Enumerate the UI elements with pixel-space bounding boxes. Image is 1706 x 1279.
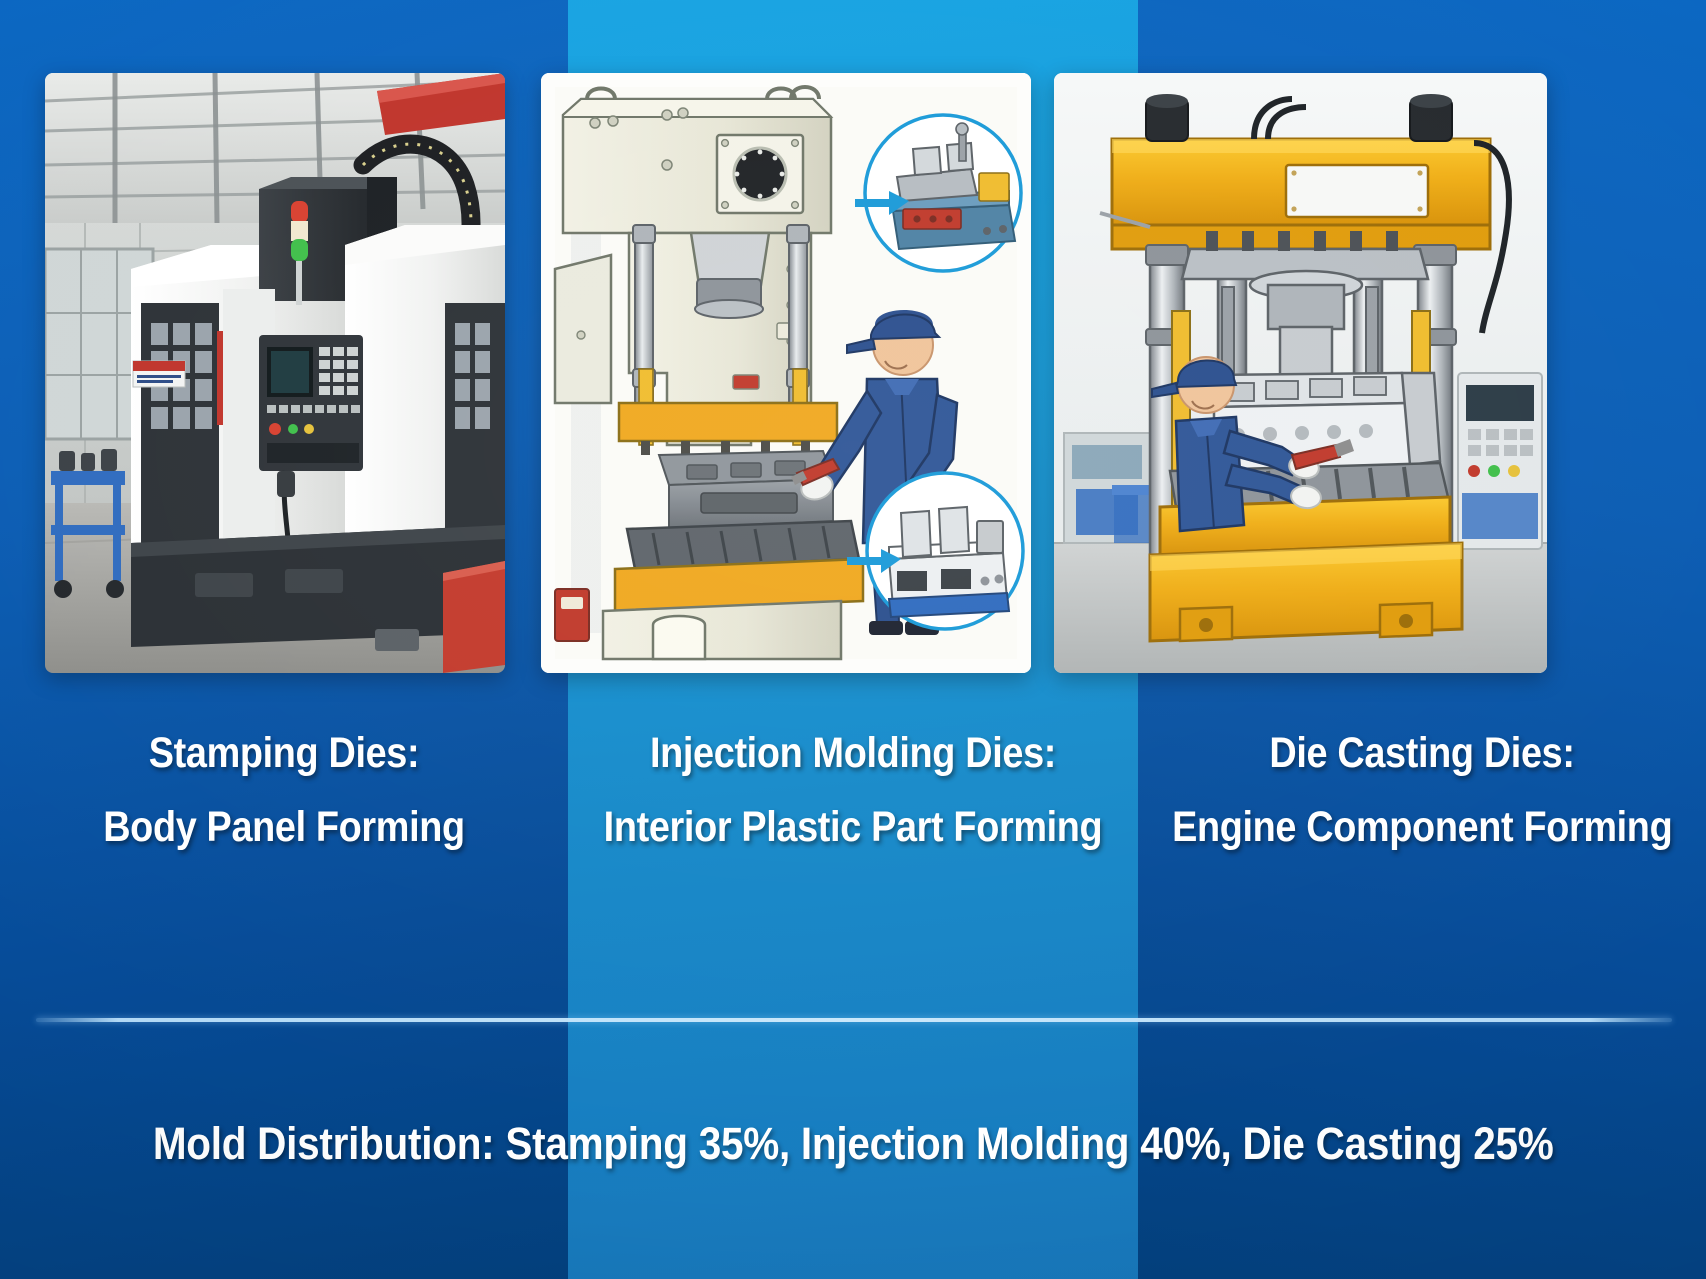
caption-die-casting: Die Casting Dies: Engine Component Formi… (1138, 726, 1706, 856)
image-panel-stamping[interactable] (45, 73, 505, 673)
caption-die-casting-line1: Die Casting Dies: (1172, 726, 1672, 782)
four-post-hydraulic-press-illustration (1054, 73, 1547, 673)
section-divider (36, 1018, 1672, 1022)
mold-distribution-text: Mold Distribution: Stamping 35%, Injecti… (153, 1118, 1554, 1170)
caption-injection-line2: Interior Plastic Part Forming (602, 800, 1104, 856)
image-panel-injection-molding[interactable] (541, 73, 1031, 673)
caption-injection-molding: Injection Molding Dies: Interior Plastic… (568, 726, 1138, 856)
callout-mold-top (865, 115, 1021, 271)
caption-stamping-line2: Body Panel Forming (34, 800, 534, 856)
image-panel-die-casting[interactable] (1054, 73, 1547, 673)
c-frame-press-with-mold-callouts-illustration (541, 73, 1031, 673)
infographic-root: Stamping Dies: Body Panel Forming Inject… (0, 0, 1706, 1279)
cnc-machining-center-photo (45, 73, 505, 673)
mold-distribution-summary: Mold Distribution: Stamping 35%, Injecti… (0, 1118, 1706, 1170)
caption-stamping: Stamping Dies: Body Panel Forming (0, 726, 568, 856)
caption-die-casting-line2: Engine Component Forming (1172, 800, 1672, 856)
caption-row: Stamping Dies: Body Panel Forming Inject… (0, 726, 1706, 916)
panel-row (0, 0, 1706, 700)
caption-injection-line1: Injection Molding Dies: (602, 726, 1104, 782)
callout-mold-bottom (867, 473, 1023, 629)
caption-stamping-line1: Stamping Dies: (34, 726, 534, 782)
